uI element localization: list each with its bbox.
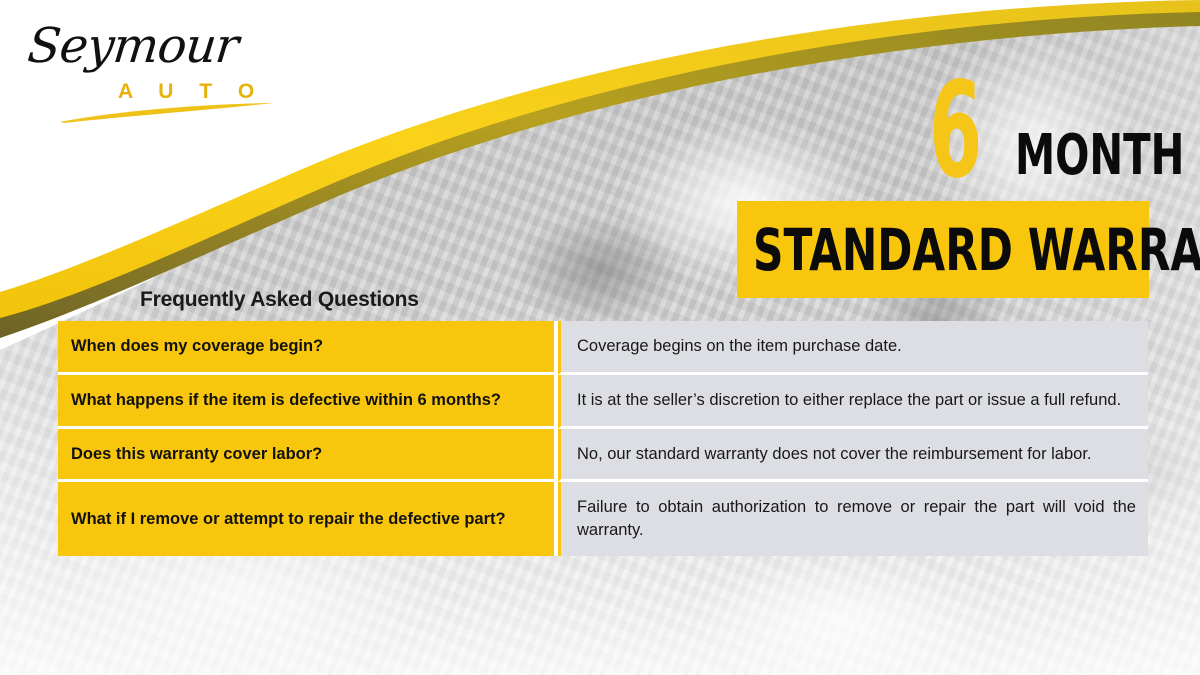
faq-answer: Failure to obtain authorization to remov…: [558, 482, 1148, 556]
standard-warranty-banner: STANDARD WARRANTY: [737, 201, 1149, 298]
faq-question: Does this warranty cover labor?: [58, 429, 558, 483]
table-row: Does this warranty cover labor? No, our …: [58, 429, 1148, 483]
faq-question: What happens if the item is defective wi…: [58, 375, 558, 429]
table-row: What if I remove or attempt to repair th…: [58, 482, 1148, 556]
warranty-duration-unit: MONTH: [1015, 128, 1184, 184]
seymour-auto-logo: Seymour A U T O: [22, 16, 272, 126]
faq-question: What if I remove or attempt to repair th…: [58, 482, 558, 556]
table-row: What happens if the item is defective wi…: [58, 375, 1148, 429]
table-row: When does my coverage begin? Coverage be…: [58, 321, 1148, 375]
faq-heading: Frequently Asked Questions: [140, 288, 419, 312]
faq-answer: It is at the seller’s discretion to eith…: [558, 375, 1148, 429]
standard-warranty-label: STANDARD WARRANTY: [753, 219, 1200, 281]
warranty-duration-number: 6: [929, 72, 981, 190]
warranty-slide: Seymour A U T O 6 MONTH STANDARD WARRANT…: [0, 0, 1200, 675]
faq-answer: Coverage begins on the item purchase dat…: [558, 321, 1148, 375]
faq-question: When does my coverage begin?: [58, 321, 558, 375]
logo-script-text: Seymour: [25, 18, 241, 74]
logo-swoosh-icon: [58, 102, 276, 124]
faq-answer: No, our standard warranty does not cover…: [558, 429, 1148, 483]
logo-auto-text: A U T O: [118, 80, 264, 104]
faq-table: When does my coverage begin? Coverage be…: [58, 321, 1148, 556]
